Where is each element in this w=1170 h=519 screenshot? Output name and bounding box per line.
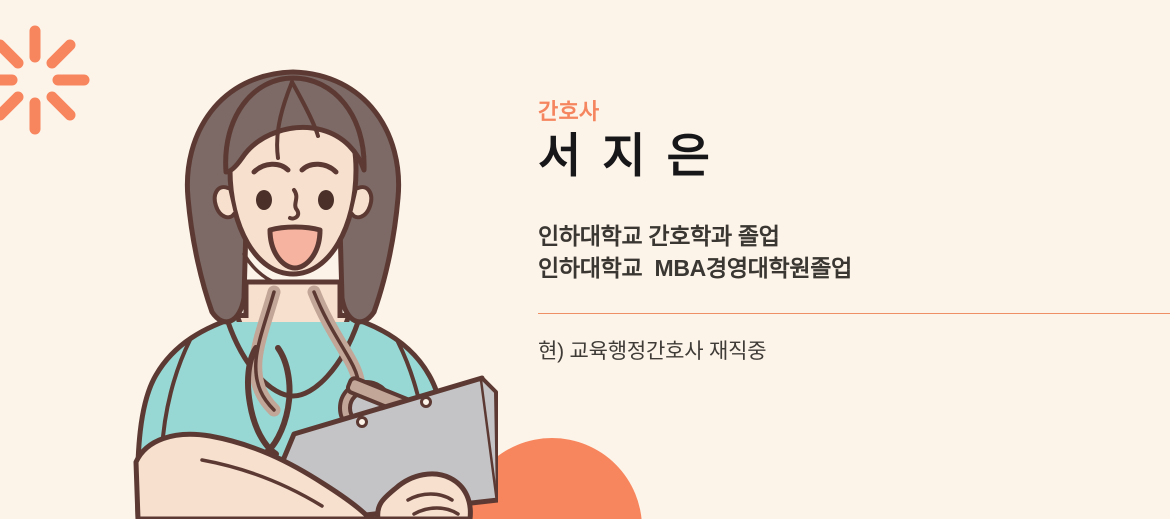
education-line: 인하대학교 간호학과 졸업 xyxy=(538,220,1158,253)
role-label: 간호사 xyxy=(538,100,1158,124)
education-line: 인하대학교 MBA경영대학원졸업 xyxy=(538,252,1158,285)
education-list: 인하대학교 간호학과 졸업 인하대학교 MBA경영대학원졸업 xyxy=(538,220,1158,285)
person-name: 서 지 은 xyxy=(538,130,1158,183)
profile-card: 간호사 서 지 은 인하대학교 간호학과 졸업 인하대학교 MBA경영대학원졸업… xyxy=(0,0,1170,519)
current-position: 현) 교육행정간호사 재직중 xyxy=(538,338,1158,366)
profile-info: 간호사 서 지 은 인하대학교 간호학과 졸업 인하대학교 MBA경영대학원졸업… xyxy=(538,100,1158,366)
divider xyxy=(538,313,1170,314)
nurse-illustration xyxy=(78,30,498,519)
